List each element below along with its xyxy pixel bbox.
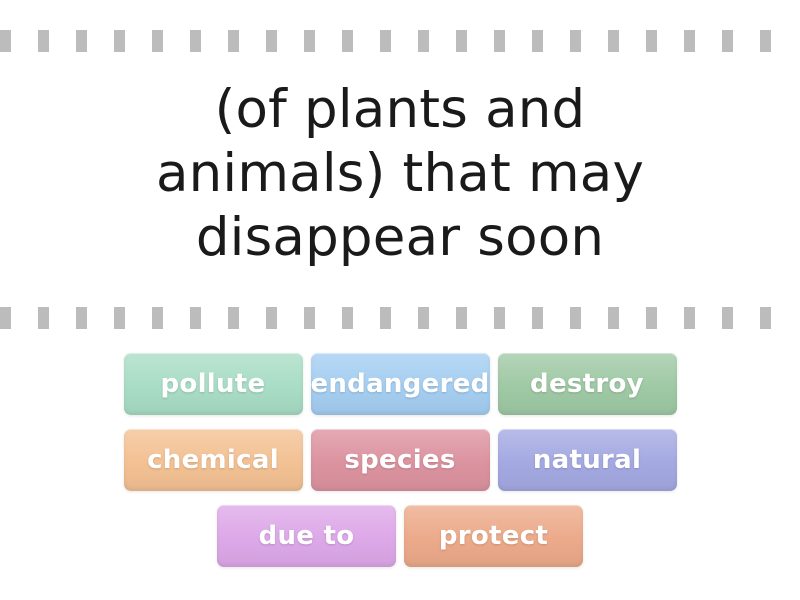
- answer-tile-label: destroy: [530, 369, 644, 399]
- answer-tile-protect[interactable]: protect: [404, 505, 583, 567]
- separator-dash: [380, 30, 391, 52]
- separator-dash: [456, 307, 467, 329]
- separator-dash: [532, 307, 543, 329]
- separator-dash: [38, 30, 49, 52]
- prompt-line-2: animals) that may: [60, 142, 740, 206]
- answer-tile-natural[interactable]: natural: [498, 429, 677, 491]
- separator-dash: [0, 30, 11, 52]
- separator-dash: [38, 307, 49, 329]
- separator-dash: [304, 30, 315, 52]
- separator-dash: [418, 30, 429, 52]
- separator-dash: [266, 30, 277, 52]
- separator-dash: [190, 307, 201, 329]
- separator-dash: [608, 307, 619, 329]
- prompt-line-3: disappear soon: [60, 206, 740, 270]
- separator-dash: [342, 307, 353, 329]
- dashed-separator-middle: [0, 307, 800, 329]
- answer-tile-label: natural: [533, 445, 641, 475]
- separator-dash: [722, 30, 733, 52]
- answer-tile-pollute[interactable]: pollute: [124, 353, 303, 415]
- tile-row-1: pollute endangered destroy: [124, 353, 677, 415]
- separator-dash: [646, 30, 657, 52]
- separator-dash: [494, 307, 505, 329]
- answer-tile-chemical[interactable]: chemical: [124, 429, 303, 491]
- separator-dash: [760, 307, 771, 329]
- separator-dash: [0, 307, 11, 329]
- answer-tile-label: species: [344, 445, 455, 475]
- prompt-line-1: (of plants and: [60, 78, 740, 142]
- answer-tile-label: chemical: [147, 445, 279, 475]
- dashed-separator-top: [0, 30, 800, 52]
- answer-tile-label: endangered: [311, 369, 490, 399]
- separator-dash: [304, 307, 315, 329]
- separator-dash: [114, 307, 125, 329]
- separator-dash: [266, 307, 277, 329]
- separator-dash: [684, 307, 695, 329]
- separator-dash: [456, 30, 467, 52]
- separator-dash: [722, 307, 733, 329]
- answer-tile-species[interactable]: species: [311, 429, 490, 491]
- separator-dash: [190, 30, 201, 52]
- separator-dash: [380, 307, 391, 329]
- separator-dash: [418, 307, 429, 329]
- separator-dash: [76, 307, 87, 329]
- prompt-text: (of plants and animals) that may disappe…: [0, 78, 800, 270]
- separator-dash: [228, 307, 239, 329]
- separator-dash: [570, 307, 581, 329]
- separator-dash: [494, 30, 505, 52]
- answer-tile-label: due to: [259, 521, 355, 551]
- answer-tile-label: protect: [439, 521, 548, 551]
- separator-dash: [342, 30, 353, 52]
- separator-dash: [76, 30, 87, 52]
- separator-dash: [760, 30, 771, 52]
- separator-dash: [684, 30, 695, 52]
- separator-dash: [228, 30, 239, 52]
- tile-row-2: chemical species natural: [124, 429, 677, 491]
- answer-tile-label: pollute: [161, 369, 266, 399]
- answer-tile-endangered[interactable]: endangered: [311, 353, 490, 415]
- tile-row-3: due to protect: [217, 505, 583, 567]
- separator-dash: [152, 307, 163, 329]
- separator-dash: [114, 30, 125, 52]
- separator-dash: [532, 30, 543, 52]
- separator-dash: [608, 30, 619, 52]
- separator-dash: [646, 307, 657, 329]
- answer-tile-destroy[interactable]: destroy: [498, 353, 677, 415]
- separator-dash: [570, 30, 581, 52]
- answer-tile-area: pollute endangered destroy chemical spec…: [0, 353, 800, 567]
- answer-tile-due-to[interactable]: due to: [217, 505, 396, 567]
- separator-dash: [152, 30, 163, 52]
